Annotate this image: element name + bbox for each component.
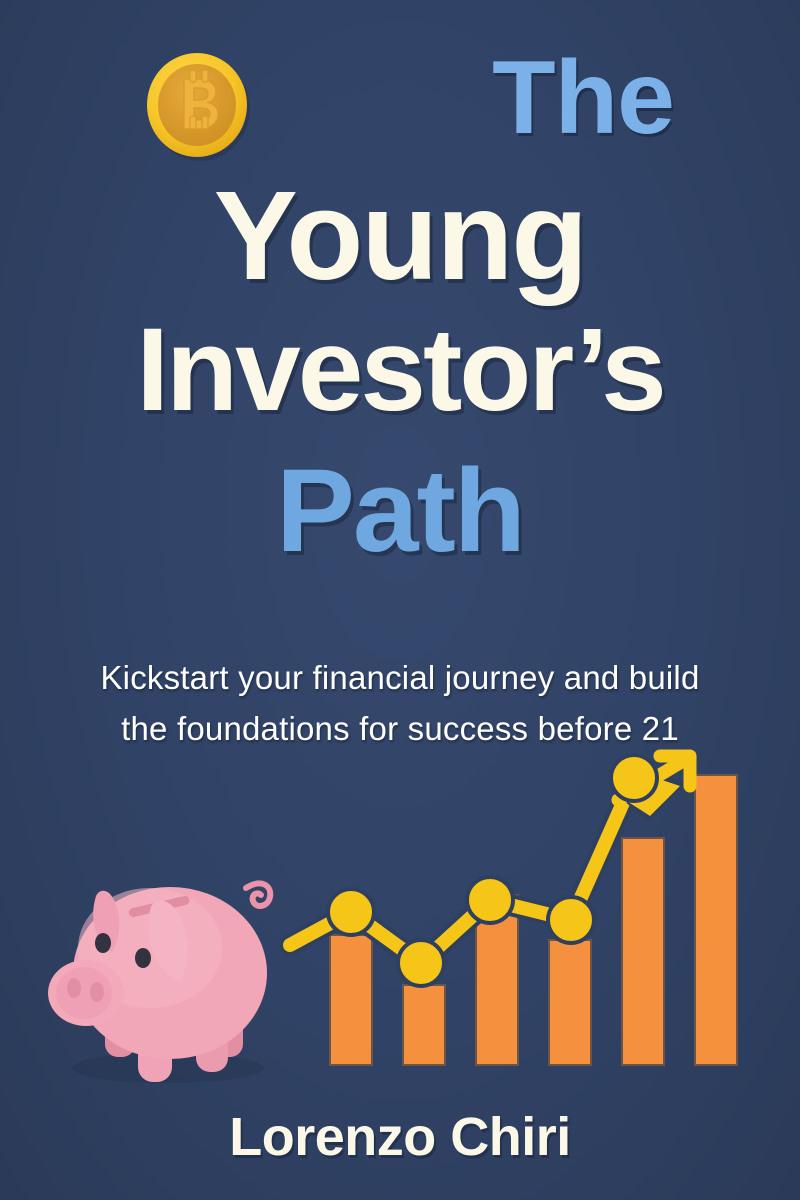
- piggy-bank-icon: [48, 883, 270, 1083]
- illustration-svg: [0, 730, 800, 1100]
- book-title: Young Investor’s Path: [0, 168, 800, 574]
- chart-marker: [611, 755, 657, 801]
- chart-bar: [695, 775, 737, 1065]
- title-word-the: The: [0, 46, 674, 150]
- chart-bar: [403, 985, 445, 1065]
- book-cover: The Young Investor’s Path Kickstart your…: [0, 0, 800, 1200]
- chart-marker: [398, 940, 444, 986]
- cover-illustration: [0, 730, 800, 1100]
- title-word-path: Path: [18, 448, 782, 574]
- chart-marker: [467, 877, 513, 923]
- chart-bar: [330, 935, 372, 1065]
- chart-bar: [549, 940, 591, 1065]
- book-title-the-line: The: [0, 46, 800, 150]
- chart-bar: [622, 838, 664, 1065]
- chart-marker: [548, 897, 594, 943]
- author-name: Lorenzo Chiri: [0, 1106, 800, 1168]
- title-word-young: Young: [18, 168, 782, 303]
- title-word-investors: Investor’s: [18, 303, 782, 438]
- chart-marker: [328, 889, 374, 935]
